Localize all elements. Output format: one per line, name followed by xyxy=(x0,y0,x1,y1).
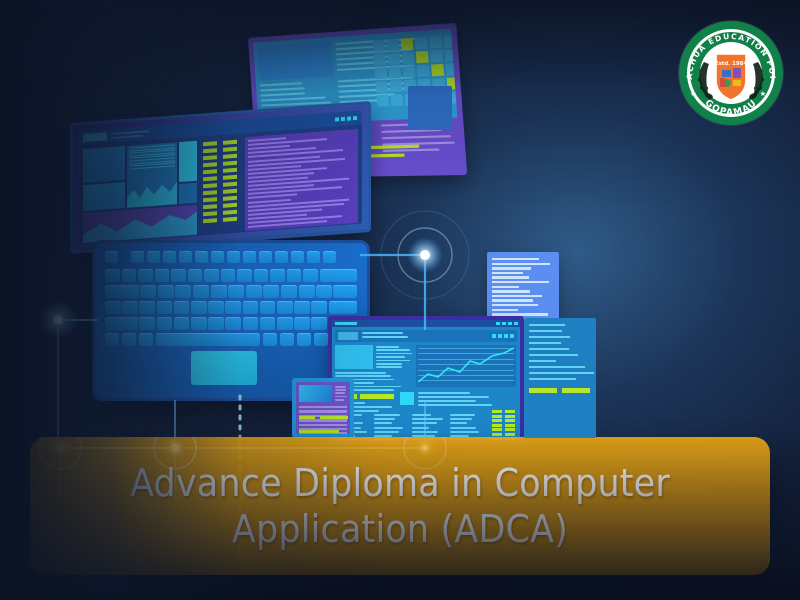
poster-canvas: Advance Diploma in Computer Application … xyxy=(0,0,800,600)
logo-star-left-icon: ★ xyxy=(690,90,696,98)
institute-logo: Estd. 1984 CHACHUA EDUCATION POINT GOPAM… xyxy=(676,18,786,128)
side-panel-lower xyxy=(524,318,596,438)
logo-star-right-icon: ★ xyxy=(760,90,766,98)
logo-estd-text: Estd. 1984 xyxy=(715,61,748,67)
